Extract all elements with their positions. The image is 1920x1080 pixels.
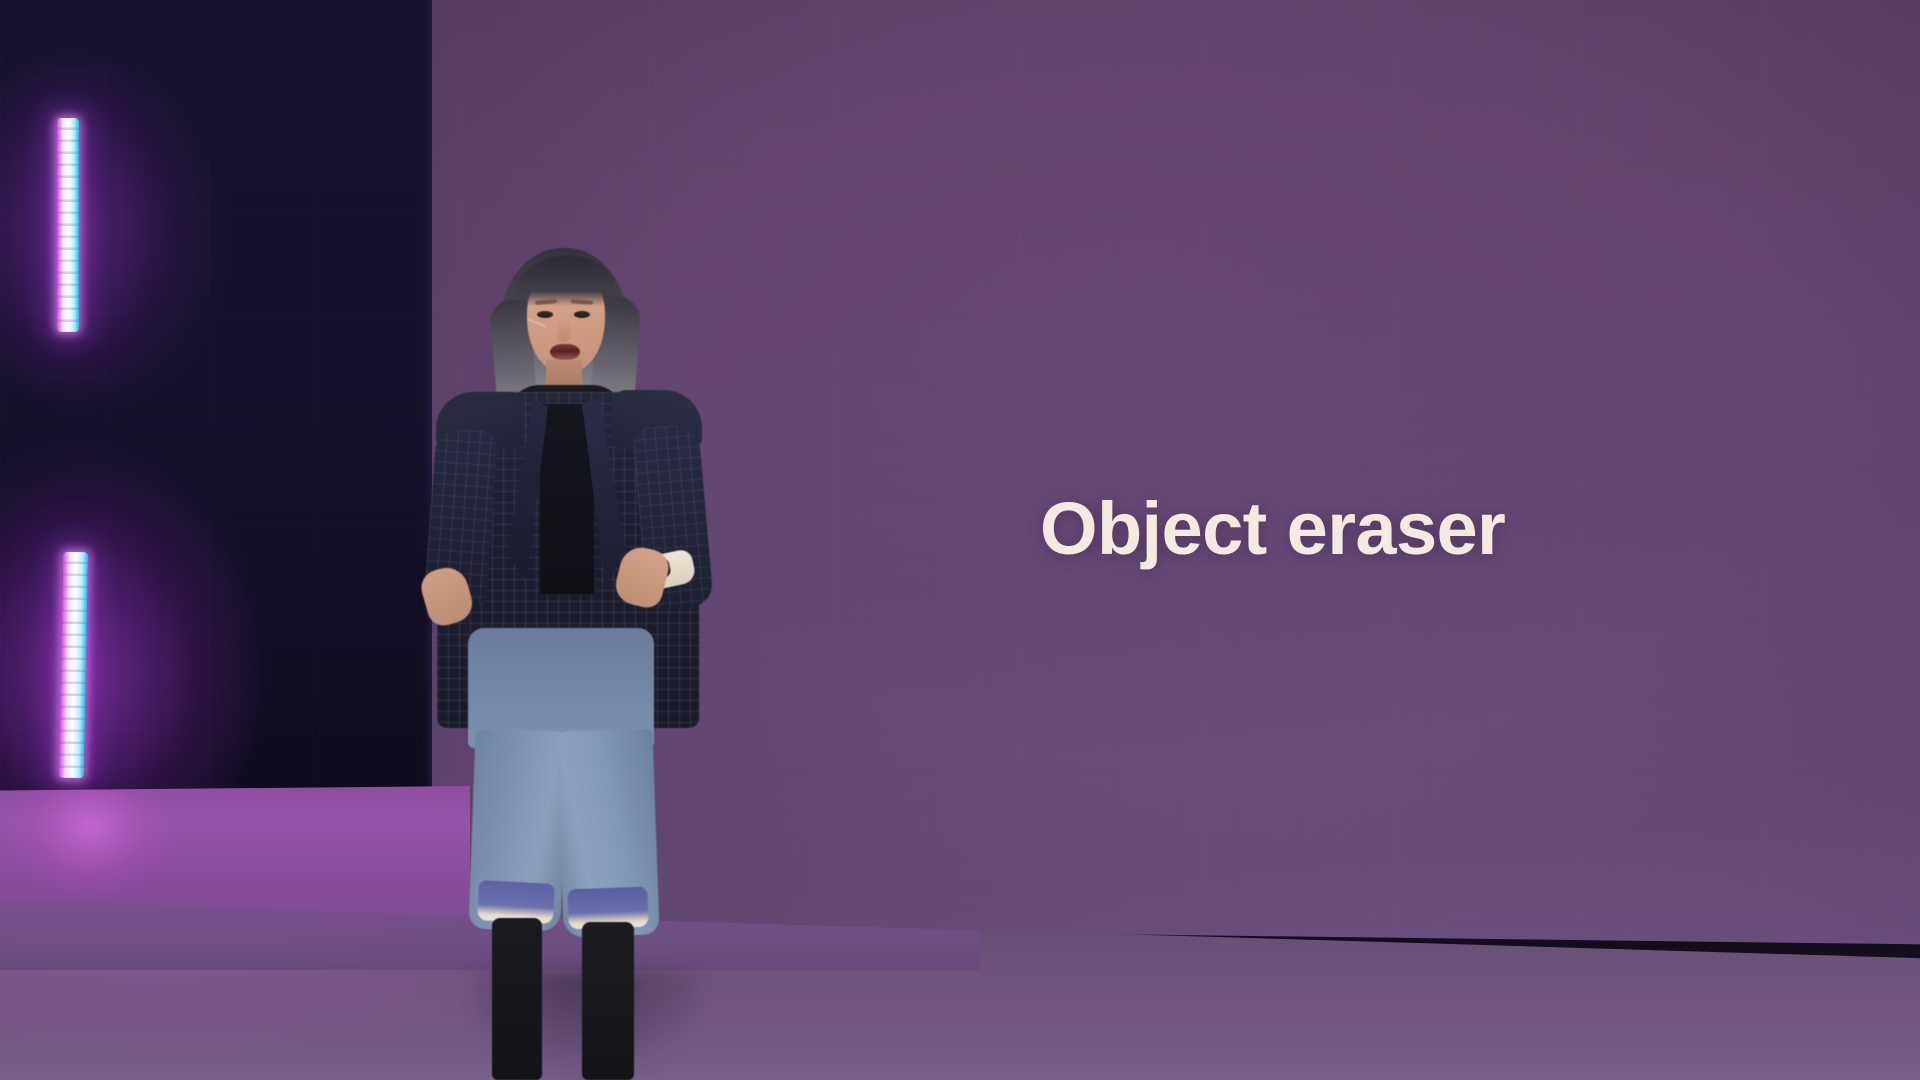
led-strip-upper — [57, 118, 79, 332]
stage-led-screen — [432, 0, 1920, 952]
screen-headline: Object eraser — [1040, 492, 1505, 566]
stage-scene: Object eraser — [0, 0, 1920, 1080]
led-strip-lower — [59, 552, 88, 778]
